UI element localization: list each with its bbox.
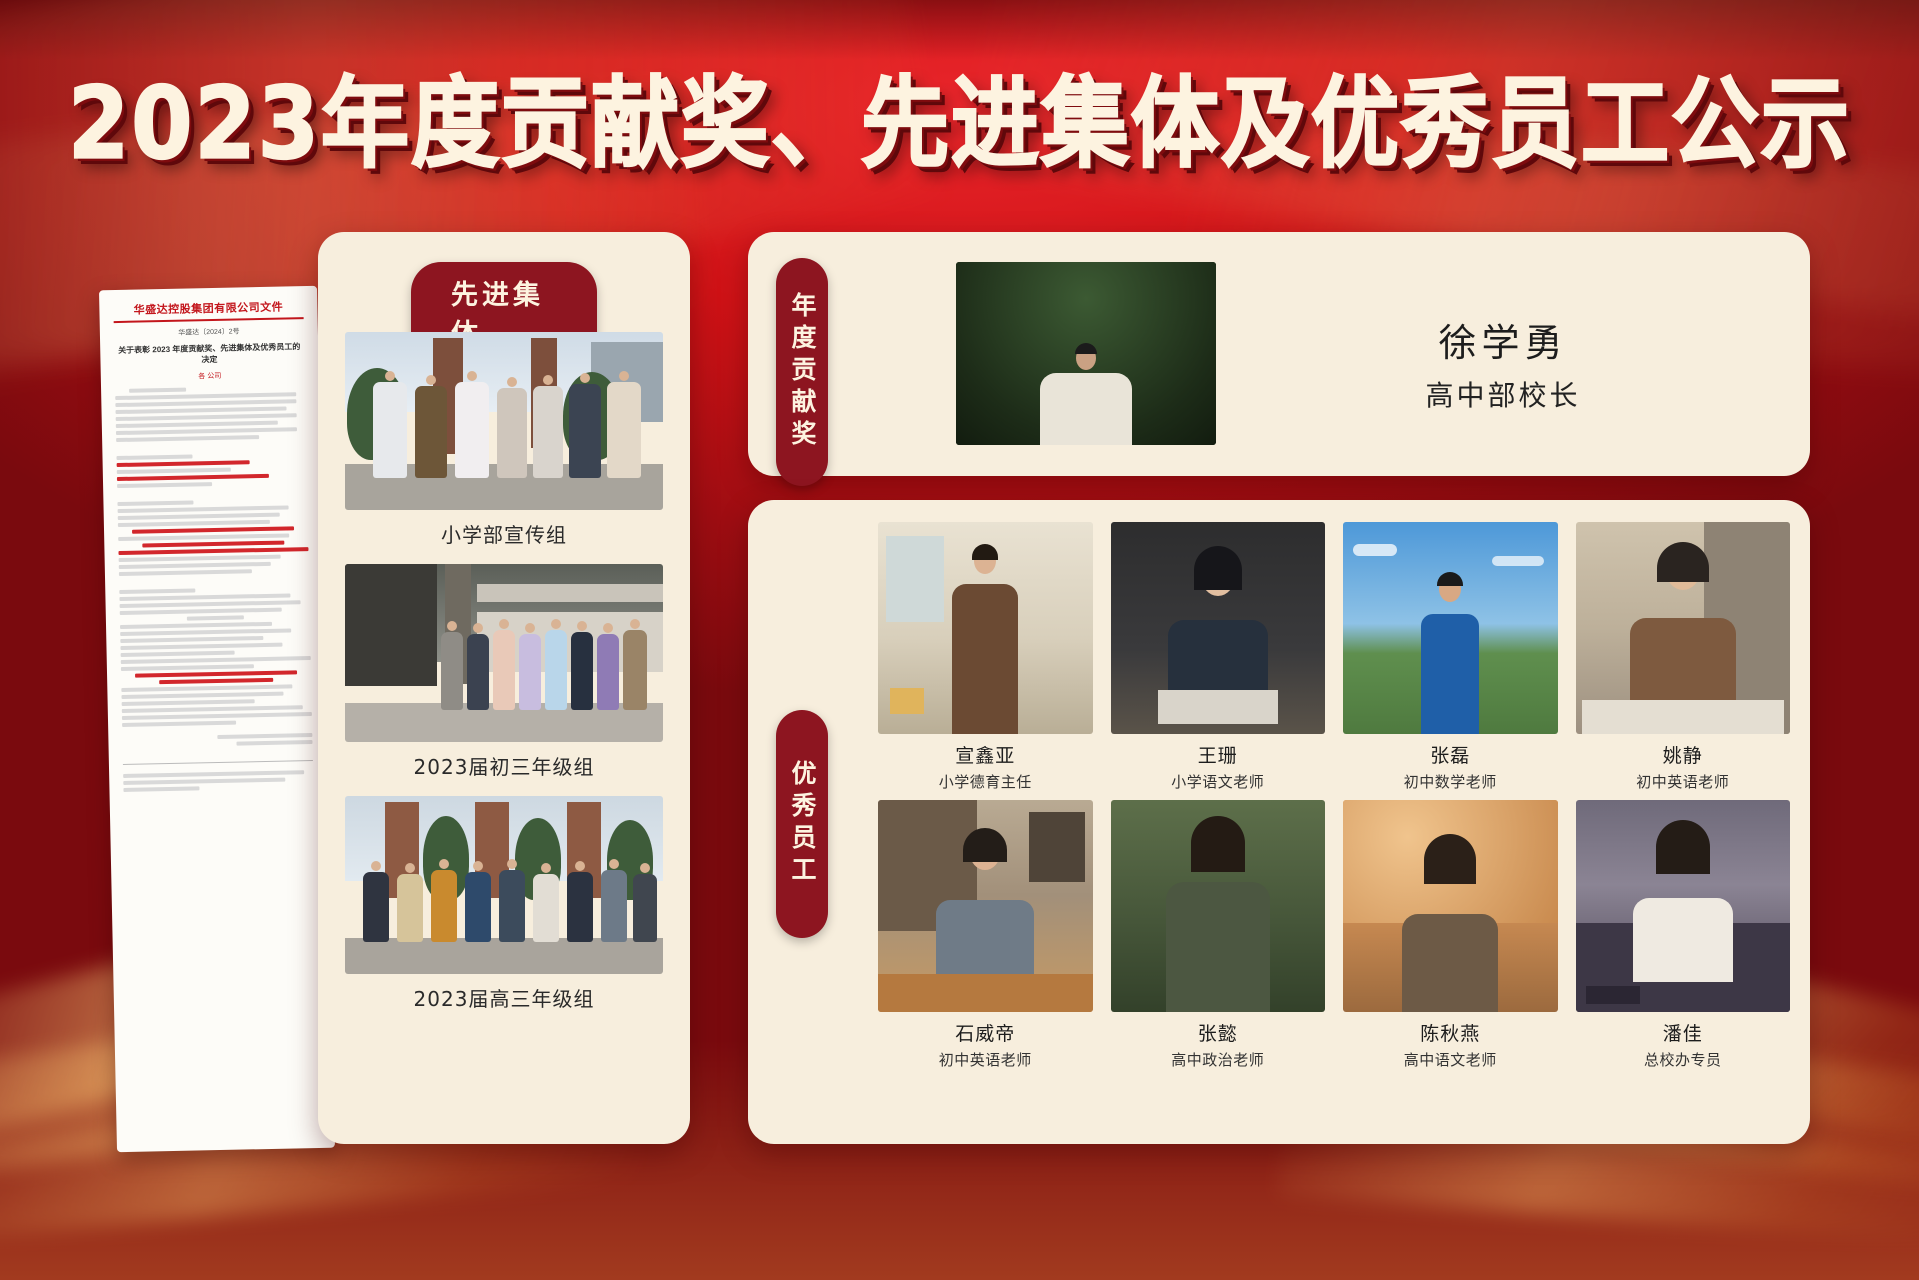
list-item: 姚静 初中英语老师 (1576, 522, 1791, 792)
employee-name: 姚静 (1576, 741, 1791, 768)
excellent-employees-badge: 优秀员工 (776, 710, 828, 938)
employee-name: 潘佳 (1576, 1019, 1791, 1046)
document-section-groups (117, 498, 309, 576)
portrait-chen-qiuyan (1343, 800, 1558, 1012)
excellent-employees-grid: 宣鑫亚 小学德育主任 王珊 小学语文老师 (878, 522, 1790, 1070)
employee-name: 张磊 (1343, 741, 1558, 768)
employee-role: 初中英语老师 (878, 1049, 1093, 1070)
excellent-employees-card: 优秀员工 宣鑫亚 小学德育主任 (748, 500, 1810, 1144)
document-section-employees (119, 586, 312, 727)
employee-role: 总校办专员 (1576, 1049, 1791, 1070)
portrait-zhang-yi (1111, 800, 1326, 1012)
document-body-paragraph-1 (115, 385, 306, 442)
employee-name: 王珊 (1111, 741, 1326, 768)
list-item: 宣鑫亚 小学德育主任 (878, 522, 1093, 792)
group-photo-caption: 2023届高三年级组 (345, 974, 663, 1022)
portrait-pan-jia (1576, 800, 1791, 1012)
portrait-xuan-xinya (878, 522, 1093, 734)
annual-contribution-badge-label: 年度贡献奖 (784, 292, 820, 452)
list-item: 2023届高三年级组 (345, 796, 663, 1022)
list-item: 石威帝 初中英语老师 (878, 800, 1093, 1070)
employee-role: 小学德育主任 (878, 771, 1093, 792)
employee-role: 小学语文老师 (1111, 771, 1326, 792)
group-photo-caption: 2023届初三年级组 (345, 742, 663, 790)
poster-title: 2023年度贡献奖、先进集体及优秀员工公示 (68, 44, 1851, 186)
list-item: 王珊 小学语文老师 (1111, 522, 1326, 792)
employee-role: 高中语文老师 (1343, 1049, 1558, 1070)
employee-name: 石威帝 (878, 1019, 1093, 1046)
employee-role: 高中政治老师 (1111, 1049, 1326, 1070)
document-subject: 关于表彰 2023 年度贡献奖、先进集体及优秀员工的决定 (114, 341, 304, 367)
portrait-wang-shan (1111, 522, 1326, 734)
employee-name: 宣鑫亚 (878, 741, 1093, 768)
excellent-employees-badge-label: 优秀员工 (784, 760, 820, 888)
document-signature (122, 733, 312, 748)
portrait-yao-jing (1576, 522, 1791, 734)
annual-contribution-name: 徐学勇 (1288, 312, 1718, 367)
annual-contribution-role: 高中部校长 (1288, 374, 1718, 414)
employee-name: 陈秋燕 (1343, 1019, 1558, 1046)
document-header: 华盛达控股集团有限公司文件 (113, 298, 303, 318)
portrait-shi-weidi (878, 800, 1093, 1012)
group-photo-senior-grade3 (345, 796, 663, 974)
advanced-groups-card: 先进集体 (318, 232, 690, 1144)
advanced-groups-photo-list: 小学部宣传组 (318, 332, 690, 1022)
annual-contribution-badge: 年度贡献奖 (776, 258, 828, 486)
document-footer (123, 760, 314, 792)
employee-name: 张懿 (1111, 1019, 1326, 1046)
annual-contribution-card: 年度贡献奖 徐学勇 高中部校长 (748, 232, 1810, 476)
portrait-zhang-lei (1343, 522, 1558, 734)
list-item: 张懿 高中政治老师 (1111, 800, 1326, 1070)
list-item: 小学部宣传组 (345, 332, 663, 558)
group-photo-caption: 小学部宣传组 (345, 510, 663, 558)
award-announcement-poster: 2023年度贡献奖、先进集体及优秀员工公示 华盛达控股集团有限公司文件 华盛达〔… (0, 0, 1919, 1280)
official-document-card: 华盛达控股集团有限公司文件 华盛达〔2024〕2号 关于表彰 2023 年度贡献… (99, 286, 335, 1152)
document-recipient-mark: 各 公司 (115, 369, 305, 383)
group-photo-primary-publicity (345, 332, 663, 510)
employee-role: 初中数学老师 (1343, 771, 1558, 792)
employee-role: 初中英语老师 (1576, 771, 1791, 792)
group-photo-junior-grade3 (345, 564, 663, 742)
document-section-awards (116, 452, 307, 488)
document-header-rule (114, 317, 304, 323)
list-item: 潘佳 总校办专员 (1576, 800, 1791, 1070)
poster-title-area: 2023年度贡献奖、先进集体及优秀员工公示 (0, 52, 1919, 179)
list-item: 2023届初三年级组 (345, 564, 663, 790)
list-item: 张磊 初中数学老师 (1343, 522, 1558, 792)
list-item: 陈秋燕 高中语文老师 (1343, 800, 1558, 1070)
portrait-xu-xueyong (956, 262, 1216, 445)
document-number: 华盛达〔2024〕2号 (114, 325, 304, 339)
